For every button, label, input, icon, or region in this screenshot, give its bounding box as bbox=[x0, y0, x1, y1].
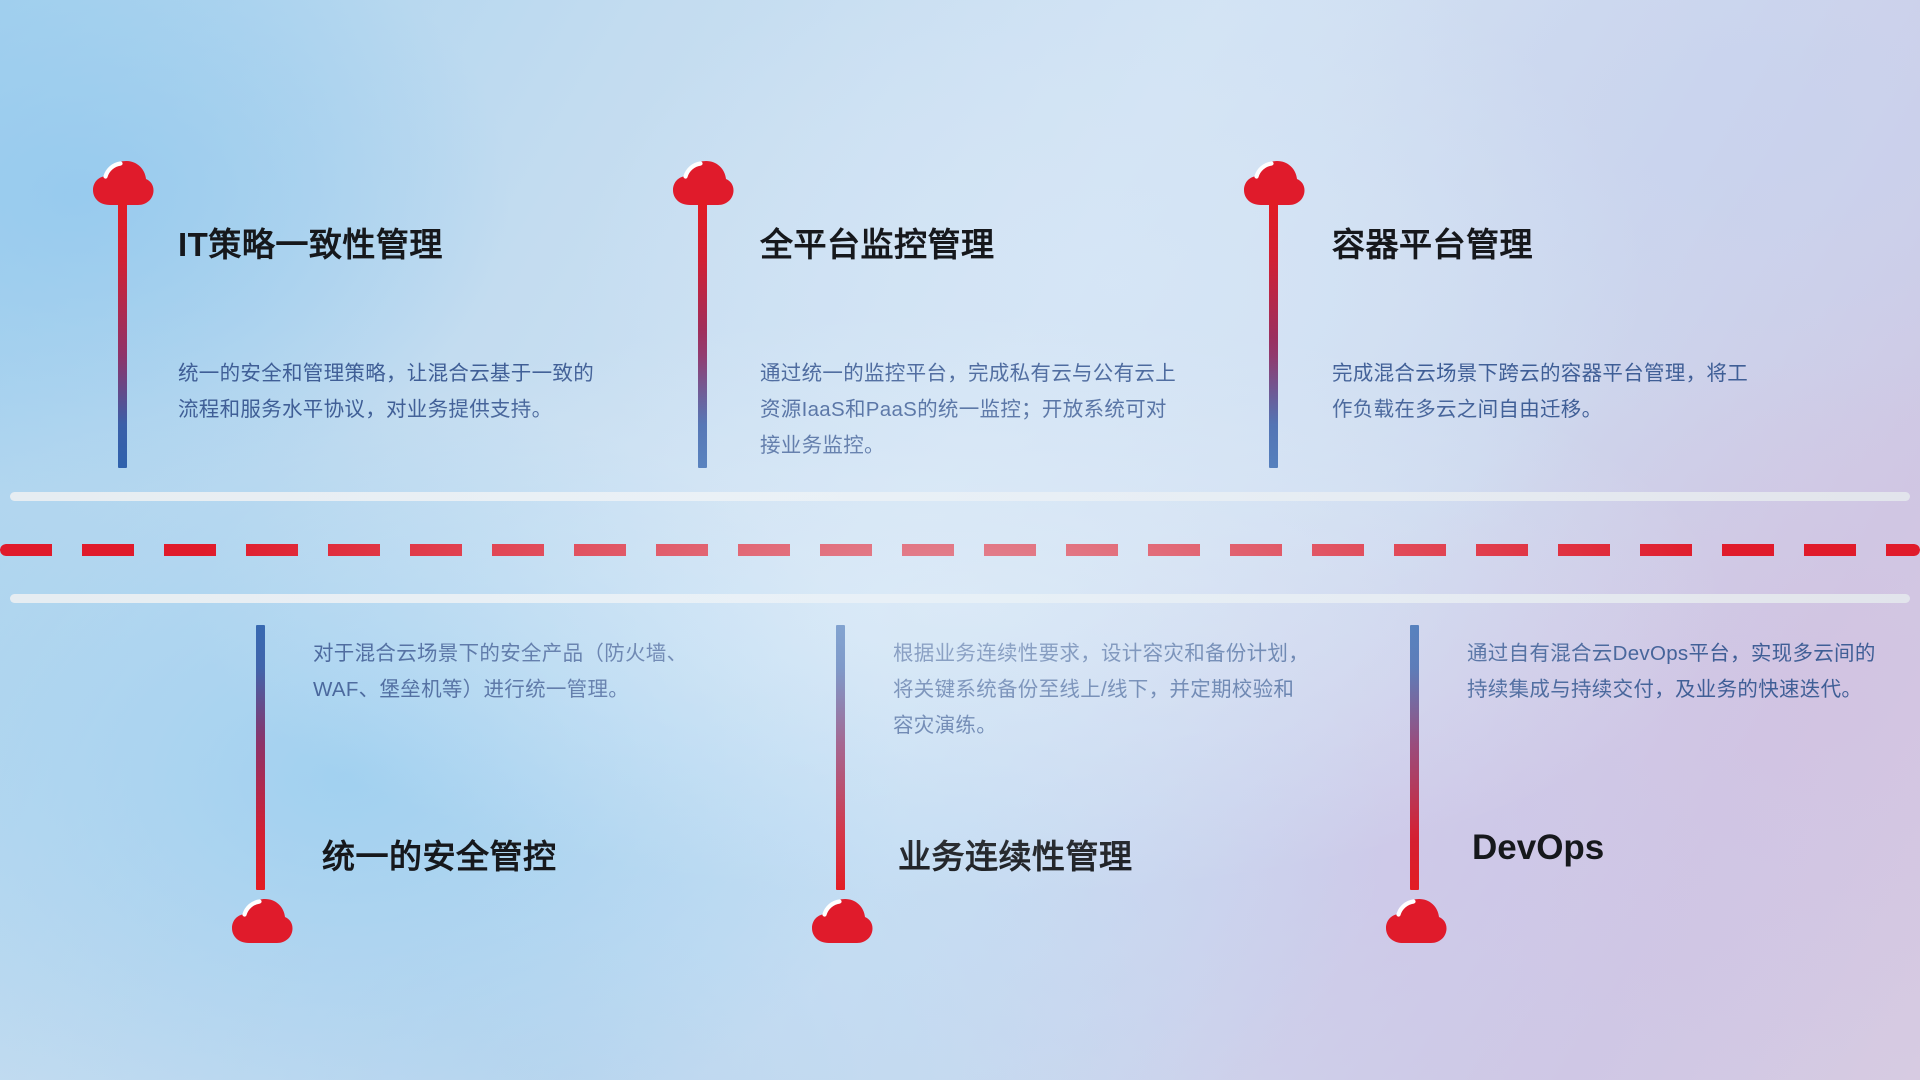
connector-stem bbox=[256, 625, 265, 890]
divider-rail-top bbox=[10, 492, 1910, 501]
connector-stem bbox=[1269, 200, 1278, 468]
feature-title: IT策略一致性管理 bbox=[178, 218, 443, 266]
hybrid-cloud-boundary-dashed-line bbox=[0, 544, 1920, 556]
feature-title: 统一的安全管控 bbox=[322, 830, 557, 878]
feature-title: 全平台监控管理 bbox=[760, 218, 995, 266]
cloud-icon bbox=[1385, 898, 1447, 944]
infographic-canvas: IT策略一致性管理 统一的安全和管理策略，让混合云基于一致的流程和服务水平协议，… bbox=[0, 0, 1920, 1080]
connector-stem bbox=[1410, 625, 1419, 890]
feature-title: 业务连续性管理 bbox=[898, 830, 1133, 878]
feature-description: 统一的安全和管理策略，让混合云基于一致的流程和服务水平协议，对业务提供支持。 bbox=[178, 356, 598, 428]
divider-rail-bottom bbox=[10, 594, 1910, 603]
feature-description: 通过自有混合云DevOps平台，实现多云间的持续集成与持续交付，及业务的快速迭代… bbox=[1467, 636, 1887, 708]
feature-title: 容器平台管理 bbox=[1332, 218, 1533, 266]
feature-description: 对于混合云场景下的安全产品（防火墙、WAF、堡垒机等）进行统一管理。 bbox=[313, 636, 733, 708]
feature-title: DevOps bbox=[1472, 828, 1604, 868]
feature-description: 完成混合云场景下跨云的容器平台管理，将工作负载在多云之间自由迁移。 bbox=[1332, 356, 1752, 428]
feature-description: 通过统一的监控平台，完成私有云与公有云上资源IaaS和PaaS的统一监控；开放系… bbox=[760, 356, 1180, 464]
connector-stem bbox=[698, 200, 707, 468]
connector-stem bbox=[118, 200, 127, 468]
cloud-icon bbox=[811, 898, 873, 944]
feature-description: 根据业务连续性要求，设计容灾和备份计划，将关键系统备份至线上/线下，并定期校验和… bbox=[893, 636, 1313, 744]
cloud-icon bbox=[231, 898, 293, 944]
connector-stem bbox=[836, 625, 845, 890]
